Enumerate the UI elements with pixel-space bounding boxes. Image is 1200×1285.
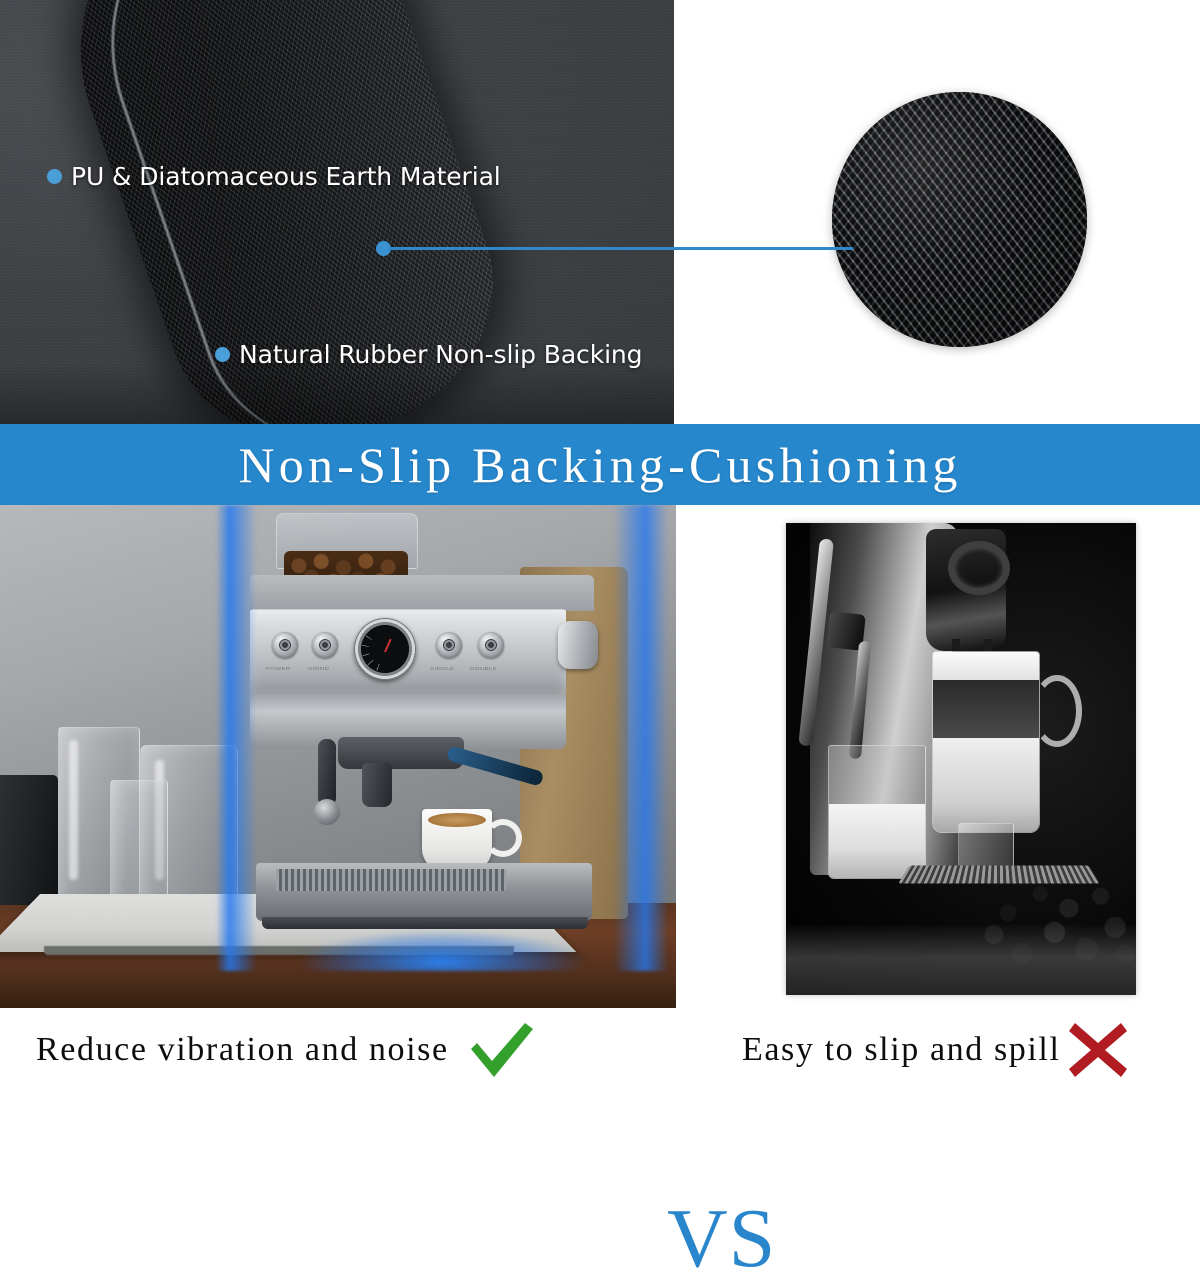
bw-latte-coffee-layer bbox=[933, 680, 1039, 738]
photo-with-mat: POWER GRIND SINGLE DOUBLE bbox=[0, 505, 676, 1008]
portafilter-head bbox=[338, 737, 464, 769]
caption-right-label: Easy to slip and spill bbox=[742, 1031, 1061, 1069]
caption-left: Reduce vibration and noise bbox=[36, 1021, 535, 1079]
single-shot-button[interactable] bbox=[436, 632, 462, 658]
coffee-canister bbox=[0, 775, 58, 905]
double-shot-button-label: DOUBLE bbox=[470, 667, 497, 672]
bw-surface bbox=[786, 923, 1136, 995]
espresso-cup-handle bbox=[484, 819, 522, 857]
caption-left-label: Reduce vibration and noise bbox=[36, 1031, 449, 1069]
machine-control-panel: POWER GRIND SINGLE DOUBLE bbox=[250, 609, 566, 696]
callout-backing: Natural Rubber Non-slip Backing bbox=[215, 340, 642, 369]
callout-backing-label: Natural Rubber Non-slip Backing bbox=[239, 340, 642, 369]
portafilter-spout bbox=[362, 763, 392, 807]
steam-wand-tip bbox=[314, 799, 340, 825]
feature-banner: Non-Slip Backing-Cushioning bbox=[0, 424, 1200, 505]
bullet-dot-icon bbox=[215, 347, 230, 362]
magnified-backing-circle bbox=[832, 92, 1087, 347]
callout-connector bbox=[376, 241, 853, 256]
caption-right: Easy to slip and spill bbox=[742, 1021, 1129, 1079]
material-detail-section: PU & Diatomaceous Earth Material Natural… bbox=[0, 0, 1200, 424]
espresso-machine: POWER GRIND SINGLE DOUBLE bbox=[228, 513, 648, 968]
bw-latte-foam-layer bbox=[933, 652, 1039, 680]
cross-mark-icon bbox=[1067, 1021, 1129, 1079]
bw-milk-glass bbox=[828, 745, 926, 879]
vs-label: VS bbox=[667, 1197, 776, 1281]
steam-wand bbox=[318, 739, 336, 807]
glass-highlight bbox=[69, 740, 78, 880]
mat-shadow-edge bbox=[0, 364, 674, 424]
connector-line bbox=[389, 247, 853, 250]
bw-latte-glass bbox=[932, 651, 1040, 833]
drip-tray-grate bbox=[276, 869, 506, 891]
glassware bbox=[110, 780, 168, 907]
banner-title: Non-Slip Backing-Cushioning bbox=[238, 440, 961, 490]
callout-material: PU & Diatomaceous Earth Material bbox=[47, 162, 501, 191]
power-button[interactable] bbox=[272, 632, 298, 658]
magnified-circle-shading bbox=[832, 92, 1087, 347]
check-mark-icon bbox=[465, 1021, 535, 1079]
bullet-dot-icon bbox=[47, 169, 62, 184]
single-shot-button-label: SINGLE bbox=[430, 667, 454, 672]
machine-feet bbox=[262, 917, 588, 929]
gauge-ticks bbox=[360, 624, 410, 674]
bw-latte-milk-layer bbox=[933, 738, 1039, 832]
pressure-gauge bbox=[354, 618, 416, 680]
callout-material-label: PU & Diatomaceous Earth Material bbox=[71, 162, 501, 191]
double-shot-button[interactable] bbox=[478, 632, 504, 658]
bw-latte-glass-handle bbox=[1032, 675, 1082, 747]
grind-button[interactable] bbox=[312, 632, 338, 658]
photo-without-mat bbox=[786, 523, 1136, 995]
grind-button-label: GRIND bbox=[308, 667, 329, 672]
espresso-cup bbox=[422, 809, 492, 871]
bw-spout-ring bbox=[948, 541, 1010, 595]
power-button-label: POWER bbox=[266, 667, 291, 672]
steam-knob[interactable] bbox=[558, 621, 598, 669]
machine-top bbox=[250, 575, 594, 611]
